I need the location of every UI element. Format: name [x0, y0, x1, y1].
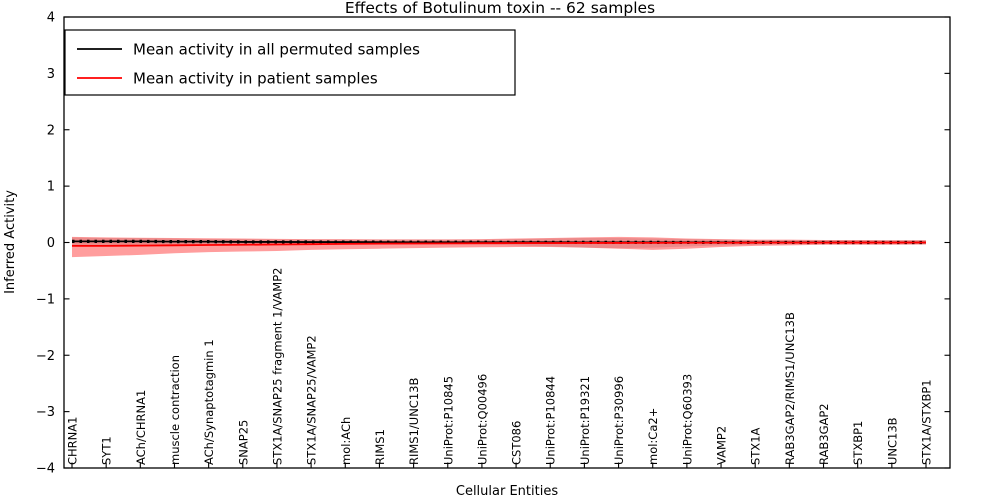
x-tick-label: VAMP2: [715, 426, 729, 465]
x-tick-label: STXBP1: [851, 421, 865, 465]
x-tick-label: UniProt:P19321: [578, 376, 592, 465]
x-tick-label: ACh/Synaptotagmin 1: [202, 339, 216, 465]
y-tick-label: 2: [47, 123, 55, 138]
x-tick-label: UniProt:P30996: [612, 376, 626, 465]
legend-label-permuted[interactable]: Mean activity in all permuted samples: [133, 41, 420, 59]
y-tick-label: 4: [47, 11, 55, 26]
x-tick-label: CST086: [510, 421, 524, 465]
x-axis-ticks: CHRNA1SYT1ACh/CHRNA1muscle contractionAC…: [66, 268, 934, 468]
chart-canvas: −4−3−2−101234 CHRNA1SYT1ACh/CHRNA1muscle…: [0, 0, 1000, 500]
chart-legend[interactable]: Mean activity in all permuted samplesMea…: [65, 30, 515, 95]
x-tick-label: ACh/CHRNA1: [134, 390, 148, 465]
y-tick-label: −4: [36, 462, 55, 477]
y-tick-label: 0: [47, 236, 55, 251]
chart-figure: −4−3−2−101234 CHRNA1SYT1ACh/CHRNA1muscle…: [0, 0, 1000, 500]
x-tick-label: STX1A: [749, 427, 763, 465]
y-axis-label: Inferred Activity: [3, 190, 18, 294]
x-tick-label: UNC13B: [885, 417, 899, 465]
x-tick-label: SNAP25: [236, 420, 250, 465]
x-tick-label: mol:Ca2+: [646, 408, 660, 465]
x-tick-label: RIMS1/UNC13B: [407, 378, 421, 465]
x-tick-label: RAB3GAP2/RIMS1/UNC13B: [783, 312, 797, 465]
y-tick-label: −3: [36, 405, 55, 420]
x-tick-label: mol:ACh: [339, 417, 353, 465]
x-axis-label: Cellular Entities: [456, 484, 558, 499]
x-tick-label: UniProt:Q60393: [680, 374, 694, 465]
x-tick-label: RIMS1: [373, 429, 387, 465]
y-tick-label: 1: [47, 180, 55, 195]
x-tick-label: UniProt:P10845: [441, 376, 455, 465]
x-tick-label: STX1A/SNAP25/VAMP2: [305, 335, 319, 465]
page-title: Effects of Botulinum toxin -- 62 samples: [345, 0, 655, 17]
x-tick-label: UniProt:Q00496: [475, 374, 489, 465]
legend-label-patient[interactable]: Mean activity in patient samples: [133, 70, 378, 88]
y-tick-label: −2: [36, 349, 55, 364]
patient-std-band: [72, 237, 926, 257]
x-tick-label: STX1A/STXBP1: [920, 379, 934, 465]
x-tick-label: STX1A/SNAP25 fragment 1/VAMP2: [270, 268, 284, 465]
x-tick-label: muscle contraction: [168, 355, 182, 465]
y-tick-label: 3: [47, 67, 55, 82]
y-tick-label: −1: [36, 292, 55, 307]
x-tick-label: SYT1: [100, 436, 114, 465]
x-tick-label: RAB3GAP2: [817, 403, 831, 465]
x-tick-label: UniProt:P10844: [544, 376, 558, 465]
plot-bands: [72, 237, 926, 257]
x-tick-label: CHRNA1: [66, 417, 80, 465]
